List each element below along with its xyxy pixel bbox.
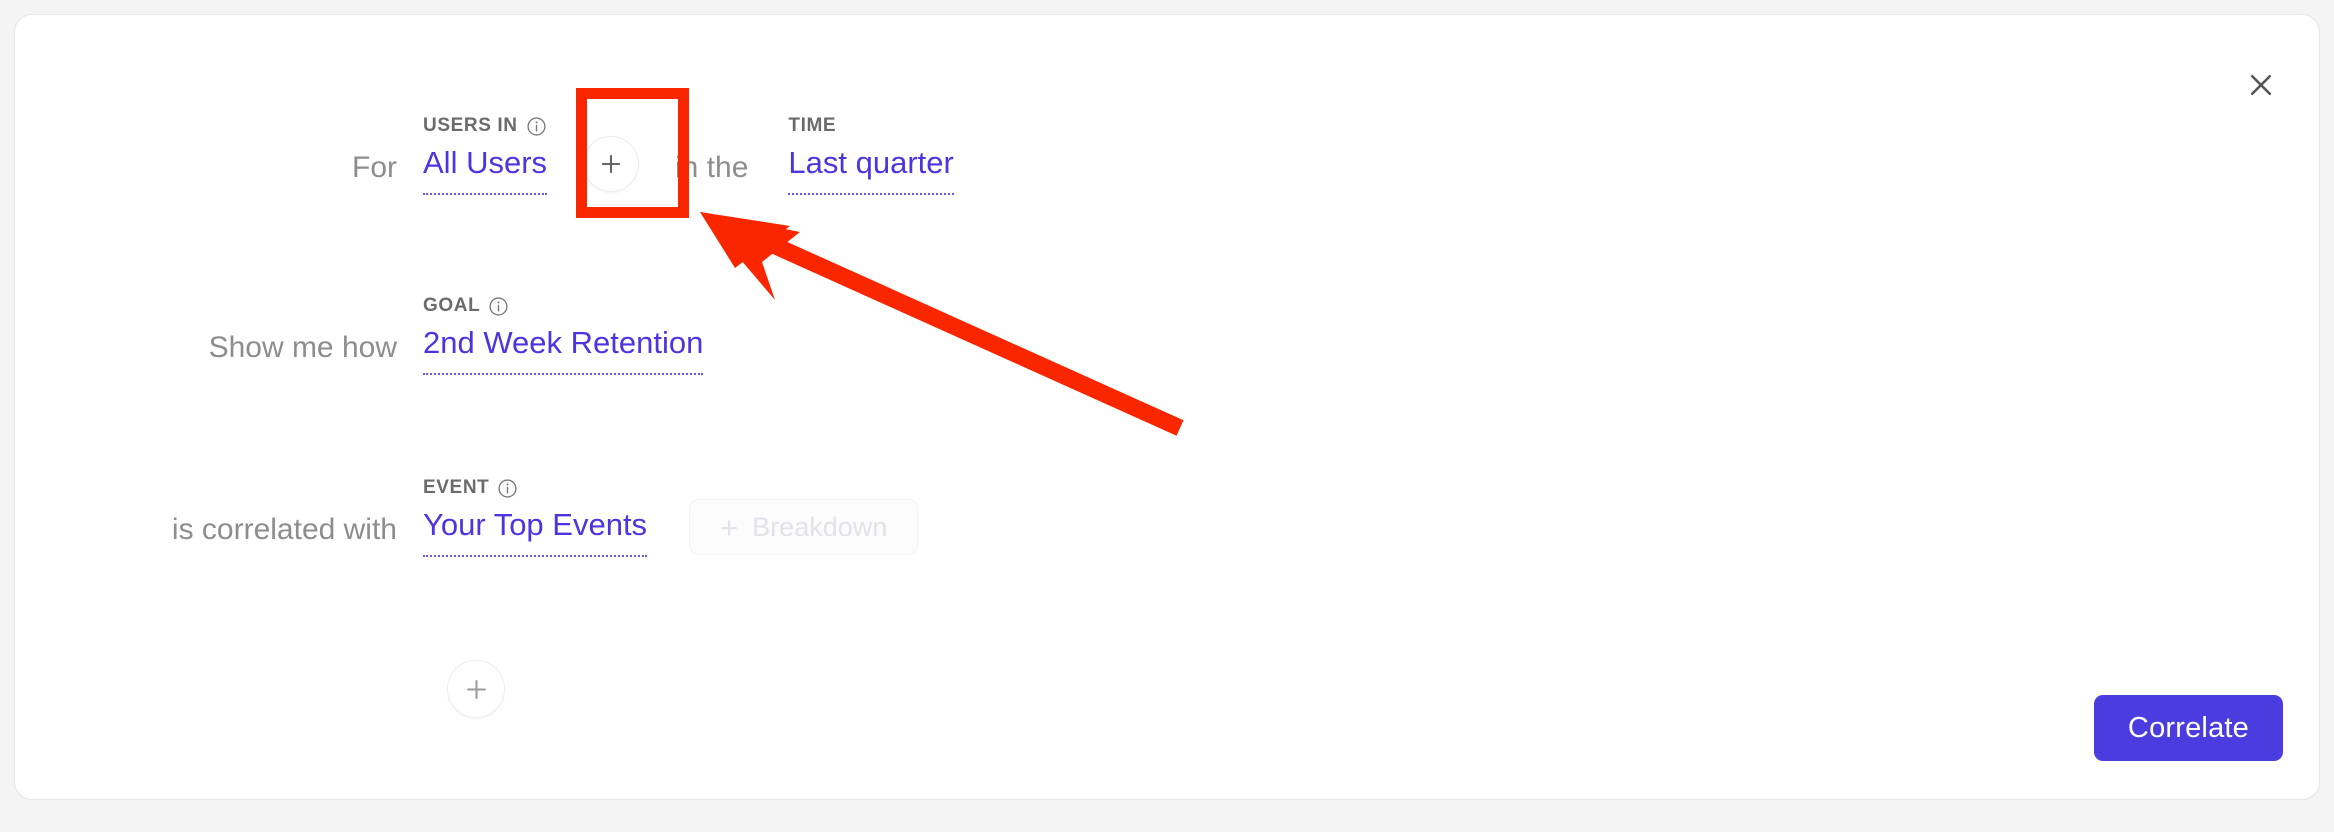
query-row-users: For USERS IN All Users [15,131,954,195]
field-label-text: EVENT [423,477,489,499]
add-row-wrap [447,660,505,718]
field-label-time: TIME [788,115,836,137]
info-icon[interactable] [526,116,547,137]
phrase-col: Show me how [15,329,423,375]
breakdown-label: Breakdown [752,512,887,543]
add-query-row-button[interactable] [447,660,505,718]
goal-value[interactable]: 2nd Week Retention [423,323,703,375]
query-row-event: is correlated with EVENT Your [15,493,918,557]
correlate-button[interactable]: Correlate [2094,695,2283,761]
info-icon[interactable] [497,478,518,499]
time-value[interactable]: Last quarter [788,143,953,195]
field-label-goal: GOAL [423,295,509,317]
field-label-event: EVENT [423,477,518,499]
field-time: TIME Last quarter [788,115,953,195]
row-phrase-show-me-how: Show me how [209,329,397,375]
row-phrase-is-correlated-with: is correlated with [172,511,397,557]
row-phrase-for: For [352,149,397,195]
phrase-col: is correlated with [15,511,423,557]
plus-icon [463,676,490,703]
field-users-in: USERS IN All Users [423,115,547,195]
correlation-builder-card: For USERS IN All Users [14,14,2320,800]
users-in-value[interactable]: All Users [423,143,547,195]
close-icon [2246,70,2276,100]
plus-icon [598,151,624,177]
add-user-filter-button[interactable] [583,136,639,192]
close-button[interactable] [2239,63,2283,107]
event-value[interactable]: Your Top Events [423,505,647,557]
plus-icon: + [720,512,738,543]
field-label-text: TIME [788,115,836,137]
field-label-text: USERS IN [423,115,518,137]
screen: For USERS IN All Users [0,0,2334,832]
inline-plus-wrap [583,137,639,191]
phrase-col: For [15,149,423,195]
field-label-text: GOAL [423,295,480,317]
row-connector-in-the: in the [675,149,788,195]
query-row-goal: Show me how GOAL 2nd Week Rete [15,311,703,375]
add-breakdown-button[interactable]: + Breakdown [689,499,918,555]
field-goal: GOAL 2nd Week Retention [423,295,703,375]
field-event: EVENT Your Top Events [423,477,647,557]
info-icon[interactable] [488,296,509,317]
field-label-users-in: USERS IN [423,115,547,137]
